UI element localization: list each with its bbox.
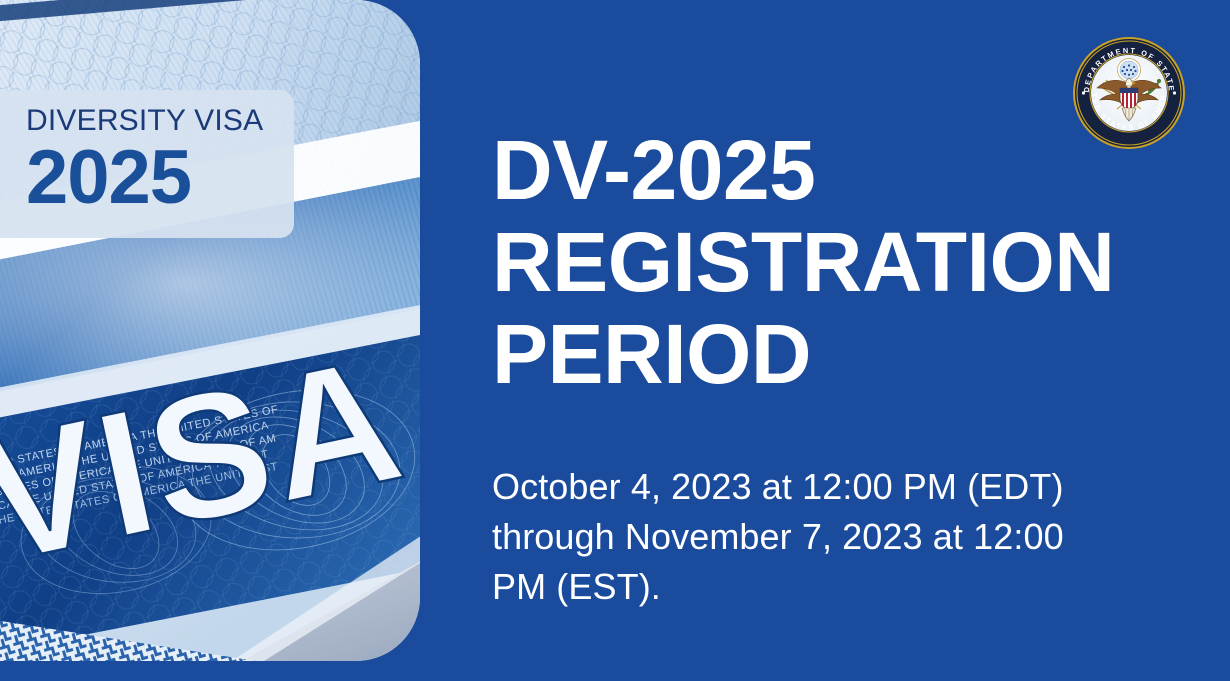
department-of-state-seal: DEPARTMENT OF STATE UNITED STATES OF AME…	[1072, 36, 1186, 150]
badge-label-diversity-visa: DIVERSITY VISA	[26, 104, 294, 138]
dv-2025-banner: UNITED STATES OF AMERICA THE UNITED STAT…	[0, 0, 1230, 681]
title-line-3: PERIOD	[492, 308, 1114, 400]
page-title: DV-2025 REGISTRATION PERIOD	[492, 124, 1114, 400]
title-line-1: DV-2025	[492, 124, 1114, 216]
diversity-visa-badge: DIVERSITY VISA 2025	[0, 90, 294, 238]
title-line-2: REGISTRATION	[492, 216, 1114, 308]
visa-photo-panel: UNITED STATES OF AMERICA THE UNITED STAT…	[0, 0, 420, 661]
badge-label-year: 2025	[26, 136, 294, 220]
registration-date-range: October 4, 2023 at 12:00 PM (EDT) throug…	[492, 462, 1112, 612]
seal-graphic: DEPARTMENT OF STATE UNITED STATES OF AME…	[1072, 36, 1186, 150]
